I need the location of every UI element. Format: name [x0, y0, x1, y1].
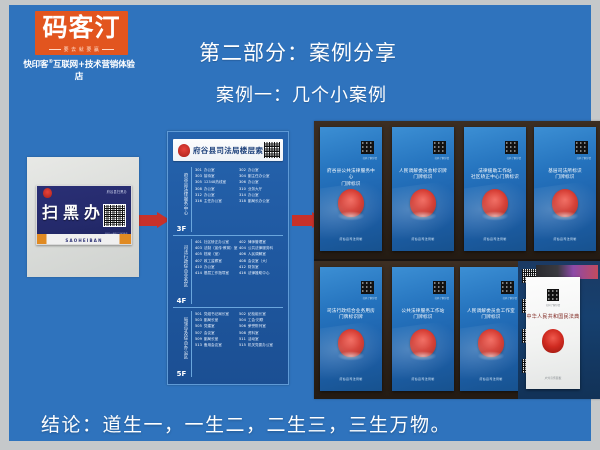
- national-emblem-icon: [43, 188, 52, 198]
- directory-header: 府谷县司法局楼层索引牌: [173, 139, 283, 161]
- logo-brand-slogan: 要 去 就 要 赢: [35, 46, 128, 53]
- directory-floor-number: 4F: [175, 297, 188, 305]
- sign-main-text: 扫黑办: [42, 203, 105, 223]
- page-title: 第二部分：案例分享: [199, 37, 397, 67]
- qr-code-icon: [505, 141, 518, 154]
- plaque-qr-caption: 扫码了解详情: [363, 296, 377, 300]
- plaque-title: 府谷县公共法律服务中心门牌标识: [326, 169, 376, 188]
- sign-org-label: 府谷县扫黑办: [107, 189, 127, 194]
- plaque-row-bottom: 扫码了解详情司法行政综合业务用房门牌标识牌府谷县司法局制扫码了解详情公共法律服务…: [314, 261, 600, 399]
- plaque-item: 扫码了解详情府谷县公共法律服务中心门牌标识府谷县司法局制: [320, 127, 382, 251]
- plaque-title: 司法行政综合业务用房门牌标识牌: [326, 309, 376, 322]
- plaque-qr-caption: 扫码了解详情: [363, 156, 377, 160]
- directory-room-list: 401社区矫正办公室402律师管理室403法制（宣传·教育）室404公共法律服务…: [195, 239, 283, 276]
- presentation-slide: 码客汀 要 去 就 要 赢 快印客®互联网+技术营销体验店 第二部分：案例分享 …: [0, 0, 600, 450]
- national-emblem-icon: [478, 329, 504, 357]
- book-qr-caption: 扫码了解详情: [526, 303, 580, 307]
- plaque-title: 人民调解委员会工作室门牌标识: [466, 309, 516, 322]
- plaque-qr-caption: 扫码了解详情: [503, 296, 517, 300]
- plaque-item: 扫码了解详情人民调解委员会标识牌门牌标识府谷县司法局制: [392, 127, 454, 251]
- logo-badge: 码客汀 要 去 就 要 赢: [35, 11, 128, 55]
- plaque-item: 扫码了解详情人民调解委员会工作室门牌标识府谷县司法局制: [460, 267, 522, 391]
- directory-floor-section: 司法行政综合业务区4F401社区矫正办公室402律师管理室403法制（宣传·教育…: [173, 236, 283, 308]
- plaque-item: 扫码了解详情公共法律服务工作站门牌标识府谷县司法局制: [392, 267, 454, 391]
- sign-pinyin: SAOHEIBAN: [37, 238, 131, 243]
- plaque-qr-caption: 扫码了解详情: [577, 156, 591, 160]
- national-emblem-icon: [178, 144, 190, 157]
- directory-floor-label: 局领导及综合办公区: [175, 312, 188, 364]
- book-title: 中华人民共和国民法典: [526, 313, 580, 320]
- page-subtitle: 案例一：几个小案例: [216, 81, 387, 107]
- national-emblem-icon: [338, 189, 364, 217]
- national-emblem-icon: [410, 189, 436, 217]
- plaque-title: 法律援助工作站社区矫正中心门牌标识: [470, 169, 520, 182]
- book-footer: 户外宣传展板: [526, 376, 580, 380]
- brand-logo: 码客汀 要 去 就 要 赢 快印客®互联网+技术营销体验店: [23, 11, 135, 82]
- qr-code-icon: [433, 281, 446, 294]
- logo-brand-name: 码客汀: [35, 12, 128, 44]
- directory-floor-label: 府谷县法律服务中心: [175, 168, 188, 220]
- plaque-qr-caption: 扫码了解详情: [507, 156, 521, 160]
- plaque-footer: 府谷县司法局制: [464, 237, 526, 241]
- qr-code-icon: [103, 204, 126, 227]
- plaque-qr-caption: 扫码了解详情: [435, 296, 449, 300]
- qr-code-icon: [361, 141, 374, 154]
- photo-directory-board: 府谷县司法局楼层索引牌 府谷县法律服务中心3F301办公室302办公室303接待…: [167, 131, 289, 385]
- photo-wall-sign: 府谷县扫黑办 扫黑办 扫描二维码了解更多 SAOHEIBAN: [27, 157, 139, 277]
- qr-code-icon: [433, 141, 446, 154]
- plaque-qr-caption: 扫码了解详情: [435, 156, 449, 160]
- photo-plaque-grid: 扫码了解详情府谷县公共法律服务中心门牌标识府谷县司法局制扫码了解详情人民调解委员…: [314, 121, 600, 399]
- national-emblem-icon: [482, 189, 508, 217]
- qr-code-icon: [547, 289, 559, 301]
- directory-floor-section: 府谷县法律服务中心3F301办公室302办公室303接待室304副主任办公室30…: [173, 164, 283, 236]
- qr-code-icon: [361, 281, 374, 294]
- qr-code-icon: [575, 141, 588, 154]
- national-emblem-icon: [410, 329, 436, 357]
- directory-room-item: 513备用会议室: [195, 342, 239, 348]
- plaque-footer: 府谷县司法局制: [320, 237, 382, 241]
- plaque-title: 基层司法所标识门牌标识: [540, 169, 590, 182]
- directory-floor-label: 司法行政综合业务区: [175, 240, 188, 292]
- directory-floor-number: 3F: [175, 225, 188, 233]
- national-emblem-icon: [338, 329, 364, 357]
- directory-floor-section: 局领导及综合办公区5F501党组书记局长室502纪检组长室503副局长室504工…: [173, 308, 283, 380]
- directory-room-item: 414基层工作指导室: [195, 270, 239, 276]
- plaque-title: 公共法律服务工作站门牌标识: [398, 309, 448, 322]
- directory-floor-number: 5F: [175, 370, 188, 378]
- qr-code-icon: [264, 142, 280, 158]
- conclusion-text: 结论：道生一，一生二，二生三，三生万物。: [41, 410, 451, 437]
- plaque-item: 扫码了解详情司法行政综合业务用房门牌标识牌府谷县司法局制: [320, 267, 382, 391]
- national-emblem-icon: [552, 189, 578, 217]
- qr-code-icon: [501, 281, 514, 294]
- civil-code-book: 扫码了解详情中华人民共和国民法典户外宣传展板: [526, 277, 580, 389]
- plaque-footer: 府谷县司法局制: [320, 377, 382, 381]
- directory-room-list: 501党组书记局长室502纪检组长室503副局长室504工会·妇联505党建室5…: [195, 311, 283, 348]
- plaque-row-top: 扫码了解详情府谷县公共法律服务中心门牌标识府谷县司法局制扫码了解详情人民调解委员…: [314, 121, 600, 259]
- logo-tagline: 快印客®互联网+技术营销体验店: [23, 58, 135, 82]
- directory-room-list: 301办公室302办公室303接待室304副主任办公室30512348热线室30…: [195, 167, 283, 204]
- directory-room-item: 316主任办公室: [195, 198, 239, 204]
- plaque-title: 人民调解委员会标识牌门牌标识: [398, 169, 448, 182]
- directory-room-item: 416法律援助中心: [239, 270, 283, 276]
- plaque-item: 扫码了解详情基层司法所标识门牌标识府谷县司法局制: [534, 127, 596, 251]
- plaque-item: 扫码了解详情法律援助工作站社区矫正中心门牌标识府谷县司法局制: [464, 127, 526, 251]
- plaque-footer: 府谷县司法局制: [392, 377, 454, 381]
- national-emblem-icon: [542, 329, 564, 353]
- directory-room-item: 515机关党委办公室: [239, 342, 283, 348]
- plaque-footer: 府谷县司法局制: [534, 237, 596, 241]
- directory-room-item: 318副局长办公室: [239, 198, 283, 204]
- plaque-footer: 府谷县司法局制: [392, 237, 454, 241]
- plaque-footer: 府谷县司法局制: [460, 377, 522, 381]
- sign-board: 府谷县扫黑办 扫黑办 扫描二维码了解更多 SAOHEIBAN: [36, 185, 132, 245]
